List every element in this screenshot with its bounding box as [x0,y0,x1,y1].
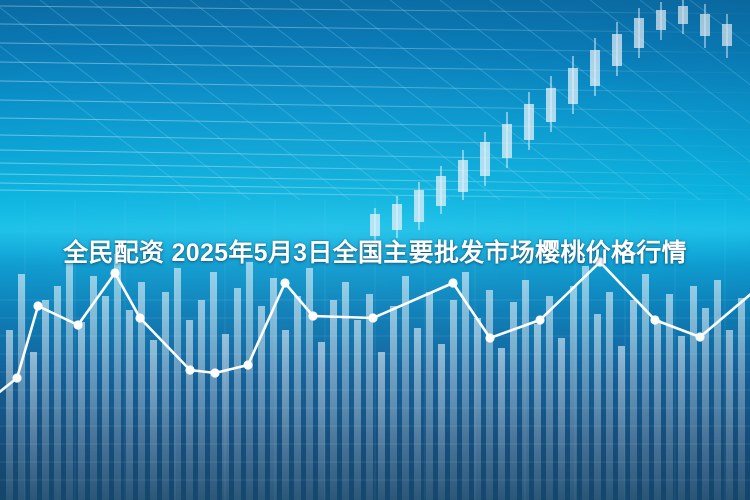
line-marker [695,332,704,341]
banner-image: 全民配资 2025年5月3日全国主要批发市场樱桃价格行情 [0,0,750,500]
banner-title-container: 全民配资 2025年5月3日全国主要批发市场樱桃价格行情 [0,228,750,274]
line-marker [12,373,21,382]
line-marker [33,301,42,310]
line-marker [448,278,457,287]
line-marker [485,333,494,342]
line-marker [185,365,194,374]
line-marker [243,360,252,369]
line-marker [535,315,544,324]
line-marker [308,311,317,320]
line-marker [650,315,659,324]
line-marker [368,313,377,322]
line-marker [135,313,144,322]
line-marker [73,320,82,329]
line-path [0,262,750,398]
page-title: 全民配资 2025年5月3日全国主要批发市场樱桃价格行情 [63,233,687,269]
line-marker [210,368,219,377]
line-marker [280,278,289,287]
